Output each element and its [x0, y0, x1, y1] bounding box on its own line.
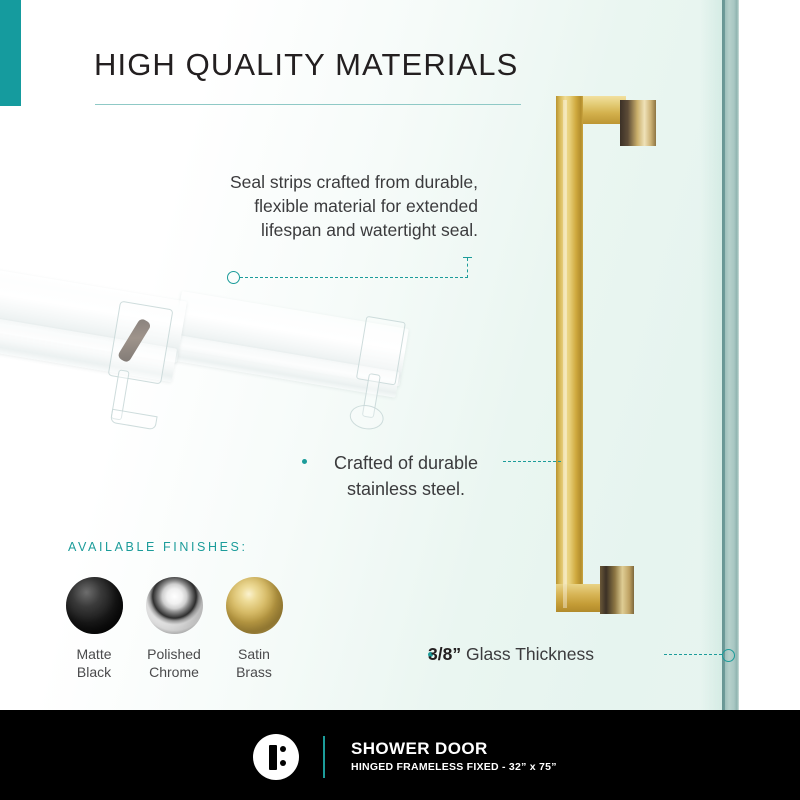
- corner-accent-bar: [0, 0, 21, 106]
- glass-panel-tint: [700, 0, 724, 710]
- leader-line-seal-strips-horizontal: [240, 277, 468, 278]
- callout-seal-strips-line-2: flexible material for extended: [172, 194, 478, 218]
- handle-post: [556, 96, 583, 612]
- glass-panel-edge-shadow: [722, 0, 725, 710]
- logo-door-bar: [269, 745, 277, 770]
- finish-label-satin-brass-line-1: Satin: [220, 645, 288, 663]
- finish-label-polished-chrome: Polished Chrome: [140, 645, 208, 681]
- leader-node-glass-thickness: [722, 649, 735, 662]
- finish-label-polished-chrome-line-1: Polished: [140, 645, 208, 663]
- callout-seal-strips: Seal strips crafted from durable, flexib…: [172, 170, 478, 242]
- finish-swatch-matte-black[interactable]: [66, 577, 123, 634]
- callout-stainless-steel-line-1: Crafted of durable: [300, 450, 512, 476]
- finish-label-polished-chrome-line-2: Chrome: [140, 663, 208, 681]
- finish-option-satin-brass[interactable]: Satin Brass: [220, 577, 288, 681]
- finish-label-matte-black-line-1: Matte: [60, 645, 128, 663]
- footer-divider: [323, 736, 325, 778]
- leader-node-seal-strips: [227, 271, 240, 284]
- finishes-heading: AVAILABLE FINISHES:: [68, 540, 248, 554]
- footer-title: SHOWER DOOR: [351, 739, 488, 759]
- finish-swatch-satin-brass[interactable]: [226, 577, 283, 634]
- leader-line-seal-strips-vertical: [467, 258, 468, 278]
- finish-label-matte-black-line-2: Black: [60, 663, 128, 681]
- callout-seal-strips-line-3: lifespan and watertight seal.: [172, 218, 478, 242]
- finish-option-polished-chrome[interactable]: Polished Chrome: [140, 577, 208, 681]
- callout-stainless-steel-line-2: stainless steel.: [300, 476, 512, 502]
- finish-option-matte-black[interactable]: Matte Black: [60, 577, 128, 681]
- footer-subtitle: HINGED FRAMELESS FIXED - 32” x 75”: [351, 761, 557, 773]
- glass-thickness-value: 3/8”: [428, 644, 461, 664]
- page-title: HIGH QUALITY MATERIALS: [94, 47, 518, 83]
- handle-mount-bottom: [600, 566, 634, 614]
- handle-mount-top: [620, 100, 656, 146]
- callout-stainless-steel: Crafted of durable stainless steel.: [300, 450, 512, 502]
- leader-tick-seal-strips: [463, 257, 472, 258]
- logo-dot-upper: [280, 746, 286, 752]
- leader-line-glass-thickness: [664, 654, 722, 655]
- handle-highlight: [563, 100, 567, 608]
- logo-dot-lower: [280, 760, 286, 766]
- finish-label-matte-black: Matte Black: [60, 645, 128, 681]
- finish-label-satin-brass-line-2: Brass: [220, 663, 288, 681]
- glass-thickness-label: Glass Thickness: [466, 644, 594, 664]
- callout-glass-thickness: 3/8” Glass Thickness: [428, 642, 594, 666]
- seal-strip-photo: [0, 255, 386, 430]
- finish-label-satin-brass: Satin Brass: [220, 645, 288, 681]
- leader-line-stainless-steel: [503, 461, 561, 462]
- callout-seal-strips-line-1: Seal strips crafted from durable,: [172, 170, 478, 194]
- finish-swatch-polished-chrome[interactable]: [146, 577, 203, 634]
- infographic-canvas: HIGH QUALITY MATERIALS Seal s: [0, 0, 800, 800]
- shower-door-logo-icon: [253, 734, 299, 780]
- title-underline: [95, 104, 521, 105]
